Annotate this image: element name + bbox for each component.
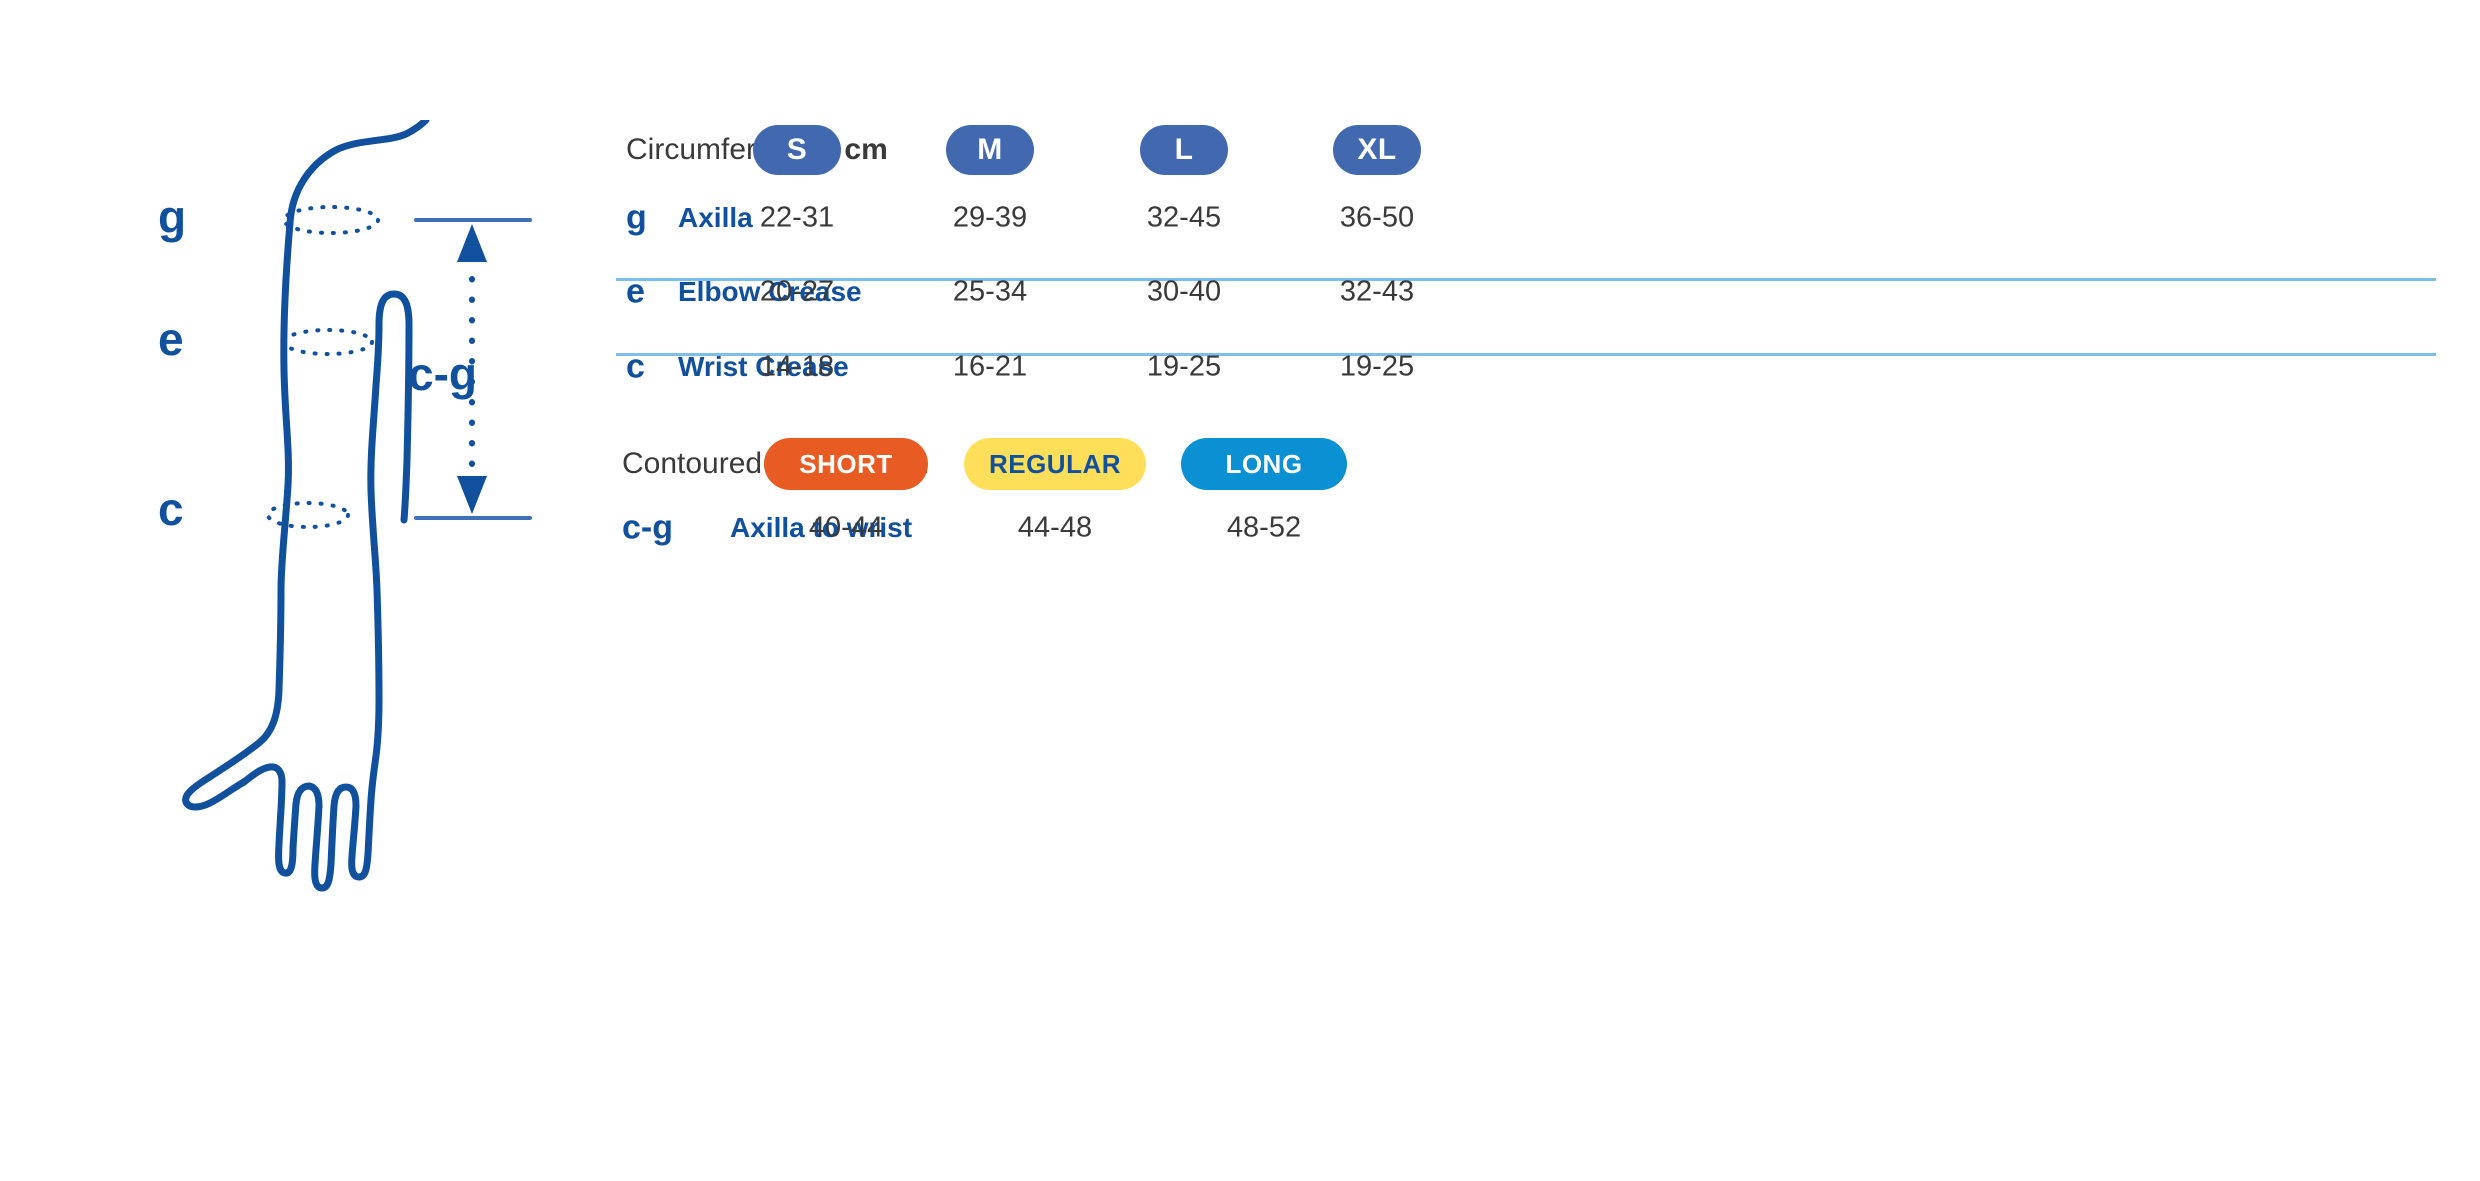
size-badge-l-label: L: [1175, 133, 1194, 167]
length-badge-short[interactable]: SHORT: [764, 438, 928, 490]
arm-measurement-diagram: g e c c-g: [150, 120, 590, 1000]
size-badge-xl-label: XL: [1357, 133, 1396, 167]
cell-elbow-xl: 32-43: [1340, 276, 1414, 309]
cell-axilla-xl: 36-50: [1340, 202, 1414, 235]
length-badge-regular[interactable]: REGULAR: [964, 438, 1146, 490]
cell-elbow-s: 20-27: [760, 276, 834, 309]
length-badge-regular-label: REGULAR: [989, 449, 1121, 480]
cell-wrist-l: 19-25: [1147, 351, 1221, 384]
size-badge-s-label: S: [787, 133, 808, 167]
cell-length-long: 48-52: [1227, 512, 1301, 545]
cell-length-regular: 44-48: [1018, 512, 1092, 545]
cell-elbow-m: 25-34: [953, 276, 1027, 309]
row-divider-1: [616, 278, 2436, 281]
elbow-circumference-ellipse: [284, 330, 372, 354]
size-badge-s[interactable]: S: [753, 125, 841, 175]
cell-axilla-s: 22-31: [760, 202, 834, 235]
dimension-arrow-up: [457, 224, 487, 262]
row-label-axilla: Axilla: [678, 202, 753, 234]
row-divider-2: [616, 353, 2436, 356]
sizing-table: Circumferences cm S M L XL g Axilla 22-3…: [616, 150, 2446, 850]
cell-elbow-l: 30-40: [1147, 276, 1221, 309]
size-badge-m[interactable]: M: [946, 125, 1034, 175]
row-code-axilla-to-wrist: c-g: [622, 509, 673, 548]
cell-axilla-m: 29-39: [953, 202, 1027, 235]
size-badge-m-label: M: [977, 133, 1003, 167]
cell-wrist-m: 16-21: [953, 351, 1027, 384]
dimension-arrow-down: [457, 476, 487, 514]
diagram-label-length: c-g: [408, 348, 477, 400]
cell-axilla-l: 32-45: [1147, 202, 1221, 235]
cell-wrist-xl: 19-25: [1340, 351, 1414, 384]
length-badge-short-label: SHORT: [799, 449, 893, 480]
cell-wrist-s: 14-18: [760, 351, 834, 384]
axilla-circumference-ellipse: [284, 207, 378, 233]
wrist-circumference-ellipse: [268, 503, 348, 527]
row-code-elbow-crease: e: [626, 273, 645, 312]
row-code-axilla: g: [626, 199, 647, 238]
length-badge-long-label: LONG: [1225, 449, 1302, 480]
circumferences-title-unit: cm: [844, 133, 887, 166]
cell-length-short: 40-44: [809, 512, 883, 545]
diagram-label-axilla: g: [158, 191, 186, 243]
row-code-wrist-crease: c: [626, 348, 645, 387]
size-badge-l[interactable]: L: [1140, 125, 1228, 175]
diagram-label-elbow: e: [158, 313, 184, 365]
length-badge-long[interactable]: LONG: [1181, 438, 1347, 490]
diagram-label-wrist: c: [158, 483, 184, 535]
size-badge-xl[interactable]: XL: [1333, 125, 1421, 175]
